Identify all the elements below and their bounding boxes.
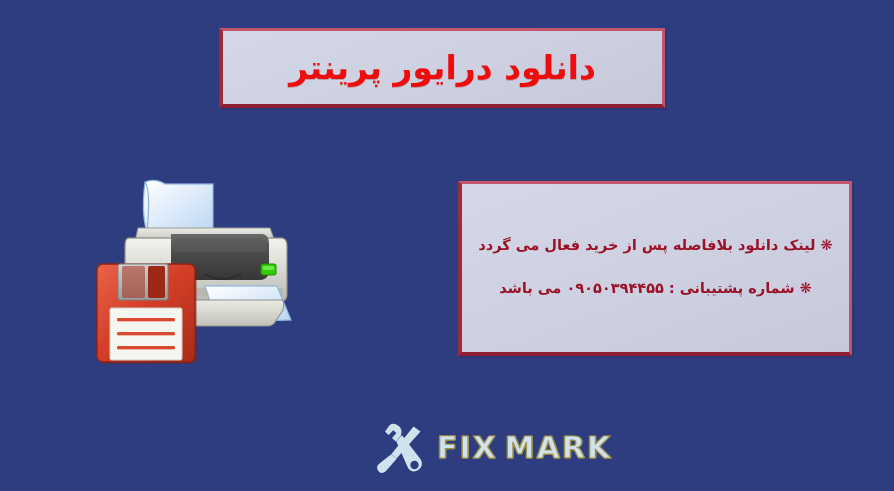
brand-logo: FIX MARK	[372, 418, 572, 478]
logo-word-mark: MARK	[505, 431, 612, 466]
info-line-download-activation: ❋ لینک دانلود بلافاصله پس از خرید فعال م…	[478, 238, 832, 255]
printer-with-floppy-disk-icon	[85, 170, 320, 370]
info-panel: ❋ لینک دانلود بلافاصله پس از خرید فعال م…	[458, 181, 852, 356]
page-title: دانلود درایور پرینتر	[289, 49, 596, 87]
wrench-screwdriver-cross-icon	[372, 420, 428, 476]
title-panel: دانلود درایور پرینتر	[219, 28, 665, 108]
info-line-support-number: ❋ شماره پشتیبانی : ۰۹۰۵۰۳۹۴۴۵۵ می باشد	[499, 281, 812, 298]
printer-illustration	[85, 170, 320, 370]
logo-wordmark: FIX MARK	[437, 431, 612, 466]
logo-word-fix: FIX	[437, 431, 498, 466]
banner-root: دانلود درایور پرینتر	[0, 0, 894, 491]
